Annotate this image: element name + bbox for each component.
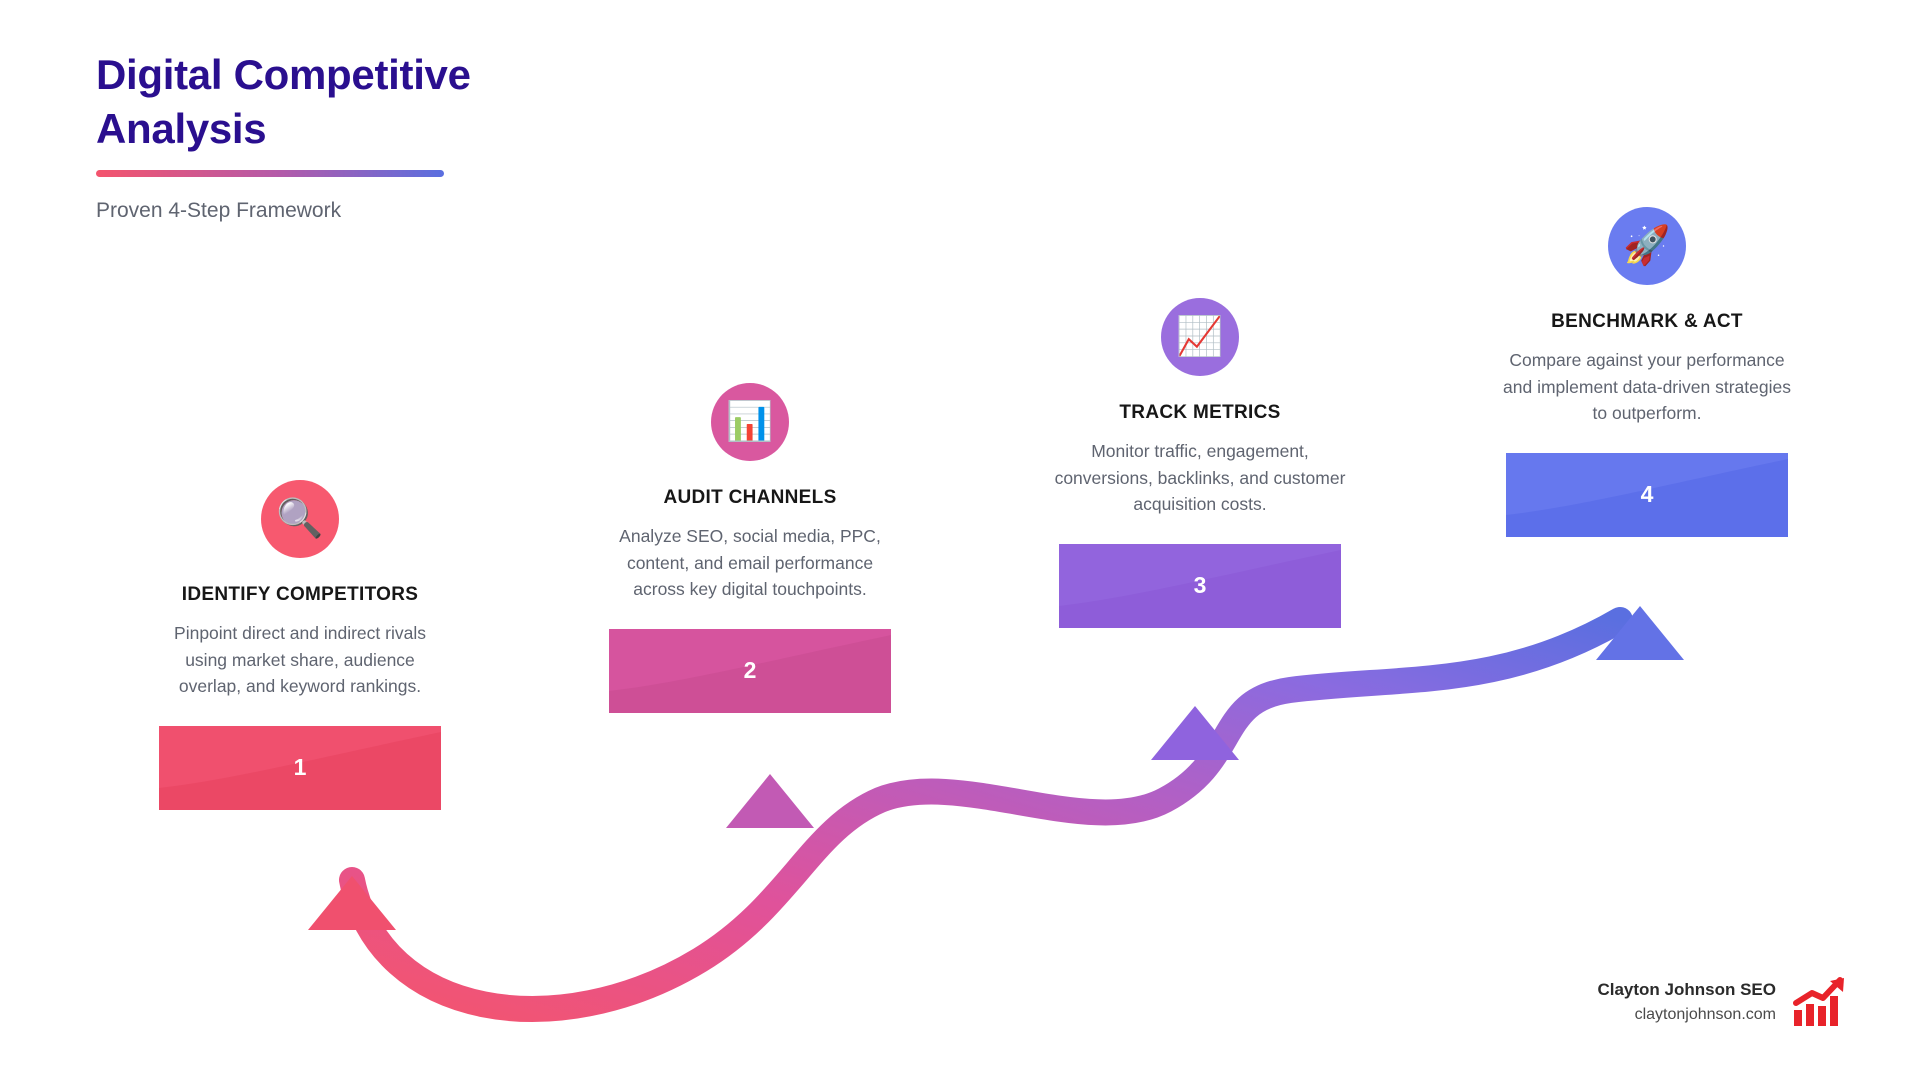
step-4-description: Compare against your performance and imp… <box>1487 347 1807 427</box>
rocket-icon: 🚀 <box>1608 207 1686 285</box>
step-1[interactable]: 🔍 IDENTIFY COMPETITORS Pinpoint direct a… <box>140 480 460 810</box>
step-1-title: IDENTIFY COMPETITORS <box>140 584 460 606</box>
step-3-number-block[interactable]: 3 <box>1059 544 1341 628</box>
brand-text: Clayton Johnson SEO claytonjohnson.com <box>1597 980 1776 1024</box>
growth-chart-logo-icon <box>1792 976 1846 1028</box>
step-1-number: 1 <box>294 754 307 781</box>
brand-name: Clayton Johnson SEO <box>1597 980 1776 1000</box>
step-3-title: TRACK METRICS <box>1040 402 1360 424</box>
brand-url[interactable]: claytonjohnson.com <box>1597 1006 1776 1024</box>
bar-chart-icon: 📊 <box>711 383 789 461</box>
chart-increasing-icon: 📈 <box>1161 298 1239 376</box>
step-2-number-block[interactable]: 2 <box>609 629 891 713</box>
step-2-number: 2 <box>744 657 757 684</box>
step-4-number: 4 <box>1641 481 1654 508</box>
step-3[interactable]: 📈 TRACK METRICS Monitor traffic, engagem… <box>1040 298 1360 628</box>
brand-footer[interactable]: Clayton Johnson SEO claytonjohnson.com <box>1597 976 1846 1028</box>
step-4[interactable]: 🚀 BENCHMARK & ACT Compare against your p… <box>1487 207 1807 537</box>
step-2[interactable]: 📊 AUDIT CHANNELS Analyze SEO, social med… <box>590 383 910 713</box>
step-4-title: BENCHMARK & ACT <box>1487 311 1807 333</box>
step-1-description: Pinpoint direct and indirect rivals usin… <box>140 620 460 700</box>
infographic-canvas: Digital Competitive Analysis Proven 4-St… <box>0 0 1920 1080</box>
step-2-title: AUDIT CHANNELS <box>590 487 910 509</box>
magnifying-glass-icon: 🔍 <box>261 480 339 558</box>
step-4-number-block[interactable]: 4 <box>1506 453 1788 537</box>
step-1-number-block[interactable]: 1 <box>159 726 441 810</box>
step-2-description: Analyze SEO, social media, PPC, content,… <box>590 523 910 603</box>
step-3-description: Monitor traffic, engagement, conversions… <box>1040 438 1360 518</box>
step-3-number: 3 <box>1194 572 1207 599</box>
